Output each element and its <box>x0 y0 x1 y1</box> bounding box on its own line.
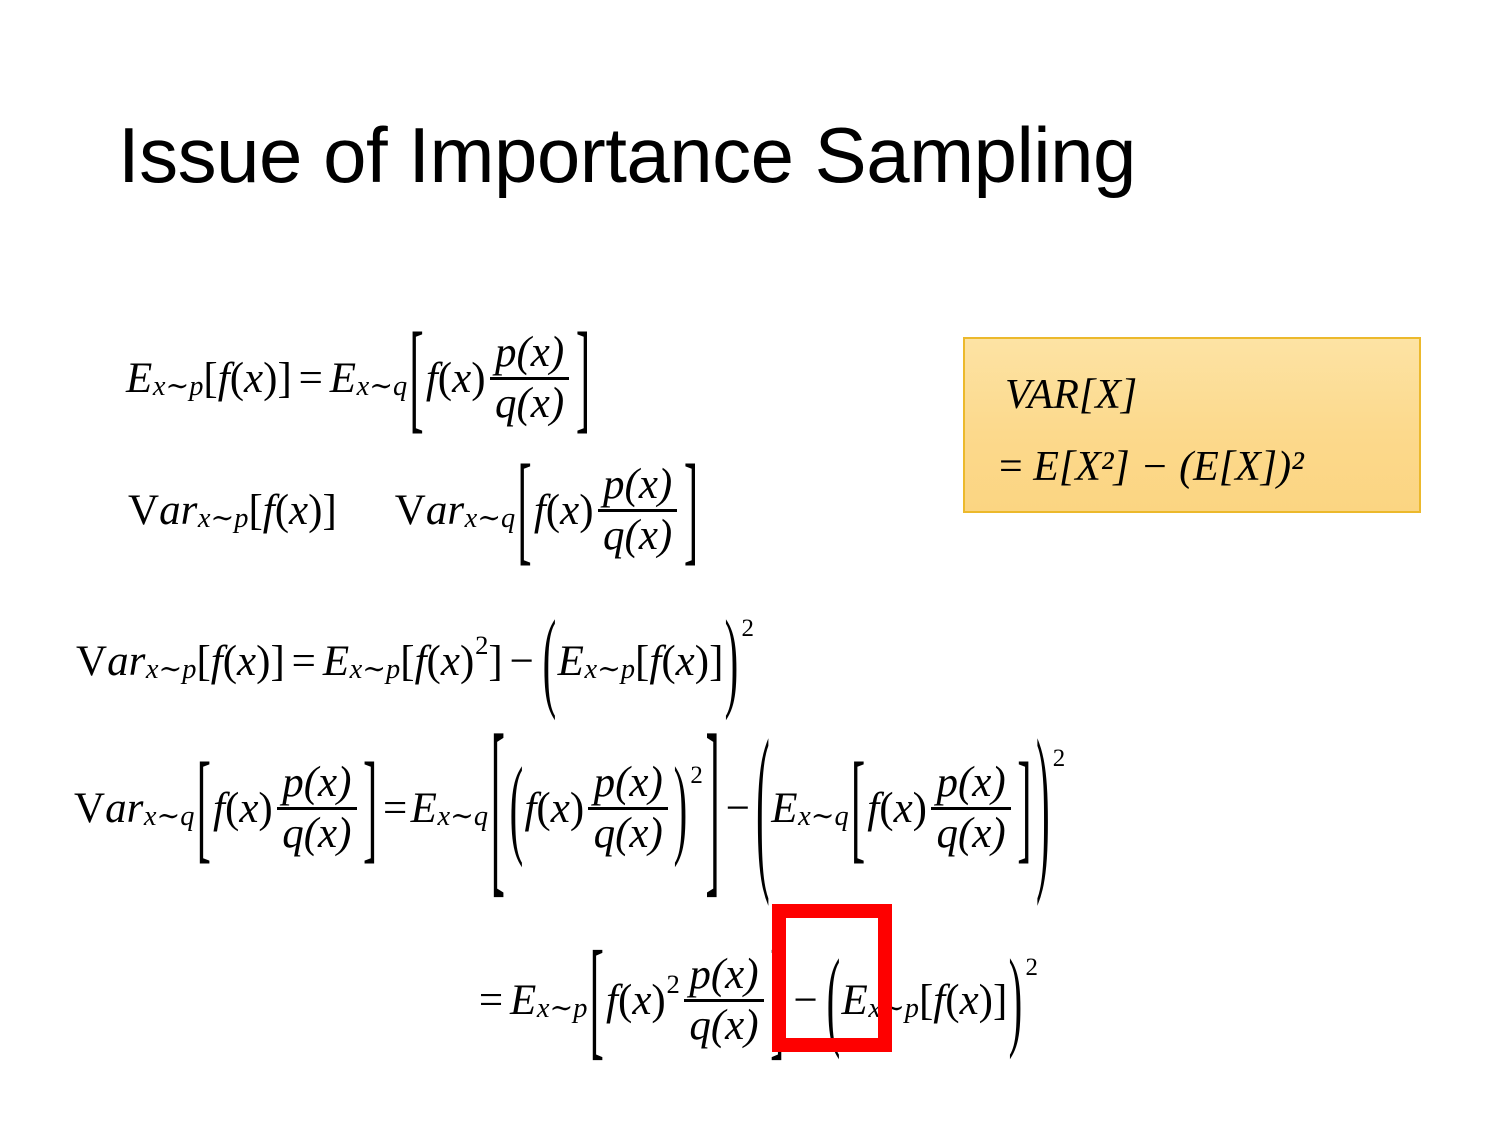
subscript-x-sim-q: x∼q <box>798 803 849 831</box>
expectation-symbol: E <box>323 640 349 683</box>
variance-symbol: Var <box>395 489 464 532</box>
page-title: Issue of Importance Sampling <box>118 116 1136 194</box>
bracket-close: ] <box>574 318 593 441</box>
expectation-symbol: E <box>842 979 868 1022</box>
bracket-close: ] <box>1015 748 1034 871</box>
importance-ratio-fraction: p(x)q(x) <box>598 462 678 560</box>
function-f: f <box>426 357 438 400</box>
expectation-symbol: E <box>558 640 584 683</box>
subscript-x-sim-p: x∼p <box>152 373 203 401</box>
exponent-two: 2 <box>740 617 754 642</box>
exponent-two: 2 <box>689 764 703 789</box>
subscript-x-sim-p: x∼p <box>197 505 248 533</box>
bracket-close: ] <box>322 489 336 532</box>
subscript-x-sim-p: x∼p <box>868 995 919 1023</box>
exponent-two: 2 <box>1052 747 1066 772</box>
subscript-x-sim-p: x∼p <box>349 656 400 684</box>
function-f: f <box>263 489 275 532</box>
subscript-x-sim-p: x∼p <box>584 656 635 684</box>
paren-close: ) <box>1034 716 1051 901</box>
bracket-close: ] <box>703 710 722 908</box>
function-f: f <box>218 357 230 400</box>
fraction-denominator: q(x) <box>598 513 678 559</box>
importance-ratio-fraction: p(x)q(x) <box>277 760 357 858</box>
subscript-x-sim-q: x∼q <box>437 803 488 831</box>
bracket-close: ] <box>277 357 291 400</box>
variance-identity-callout: VAR[X] = E[X²] − (E[X])² <box>963 337 1421 513</box>
bracket-open: [ <box>587 934 606 1067</box>
highlighted-importance-ratio: p(x)q(x) <box>684 952 764 1050</box>
variance-symbol: Var <box>74 787 143 830</box>
paren-open: ( <box>825 945 841 1057</box>
paren-close: ) <box>724 606 740 718</box>
equals-sign: = <box>380 787 411 830</box>
expectation-symbol: E <box>411 787 437 830</box>
callout-line-variance-identity: = E[X²] − (E[X])² <box>999 443 1304 491</box>
equation-line-2: Varx∼p[f(x)] Varx∼q[f(x)p(x)q(x)] <box>128 462 700 560</box>
expectation-symbol: E <box>330 357 356 400</box>
variance-symbol: Var <box>76 640 145 683</box>
equation-line-4: Varx∼q[f(x)p(x)q(x)] = Ex∼q[(f(x)p(x)q(x… <box>74 760 1065 858</box>
minus-sign: − <box>787 979 825 1022</box>
equals-sign: = <box>999 444 1023 490</box>
minus-sign: − <box>503 640 541 683</box>
equals-sign: = <box>472 979 510 1022</box>
expectation-symbol: E <box>510 979 536 1022</box>
fraction-denominator: q(x) <box>490 381 570 427</box>
equals-sign: = <box>292 357 330 400</box>
paren-open: ( <box>754 716 771 901</box>
bracket-open: [ <box>488 710 507 908</box>
importance-ratio-fraction: p(x)q(x) <box>490 330 570 428</box>
bracket-close: ] <box>682 450 701 573</box>
bracket-open: [ <box>407 318 426 441</box>
paren-close: ) <box>1008 945 1024 1057</box>
minus-sign: − <box>722 787 753 830</box>
importance-ratio-fraction: p(x)q(x) <box>588 760 668 858</box>
callout-line-var-of-x: VAR[X] <box>1005 371 1137 419</box>
variance-identity-rhs: E[X²] − (E[X])² <box>1033 444 1304 490</box>
paren-open: ( <box>508 753 524 865</box>
subscript-x-sim-q: x∼q <box>464 505 515 533</box>
bracket-open: [ <box>203 357 217 400</box>
bracket-open: [ <box>849 748 868 871</box>
importance-ratio-fraction: p(x)q(x) <box>931 760 1011 858</box>
variance-symbol: Var <box>128 489 197 532</box>
equals-sign: = <box>285 640 323 683</box>
paren-close: ) <box>673 753 689 865</box>
subscript-x-sim-q: x∼q <box>143 803 194 831</box>
function-f: f <box>534 489 546 532</box>
bracket-open: [ <box>248 489 262 532</box>
equation-line-3: Varx∼p[f(x)] = Ex∼p[f(x)2] − (Ex∼p[f(x)]… <box>76 640 754 683</box>
exponent-two: 2 <box>1024 956 1038 981</box>
fraction-numerator: p(x) <box>490 330 570 376</box>
exponent-two: 2 <box>474 632 488 659</box>
subscript-x-sim-p: x∼p <box>145 656 196 684</box>
subscript-x-sim-q: x∼q <box>356 373 407 401</box>
expectation-symbol: E <box>126 357 152 400</box>
bracket-close: ] <box>768 934 787 1067</box>
exponent-two: 2 <box>666 971 680 998</box>
equation-line-1: Ex∼p[f(x)] = Ex∼q[f(x)p(x)q(x)] <box>126 330 592 428</box>
paren-open: ( <box>541 606 557 718</box>
fraction-numerator: p(x) <box>598 462 678 508</box>
subscript-x-sim-p: x∼p <box>536 995 587 1023</box>
bracket-open: [ <box>515 450 534 573</box>
equation-line-5: = Ex∼p[f(x)2p(x)q(x)] − (Ex∼p[f(x)])2 <box>472 952 1038 1050</box>
expectation-symbol: E <box>771 787 797 830</box>
